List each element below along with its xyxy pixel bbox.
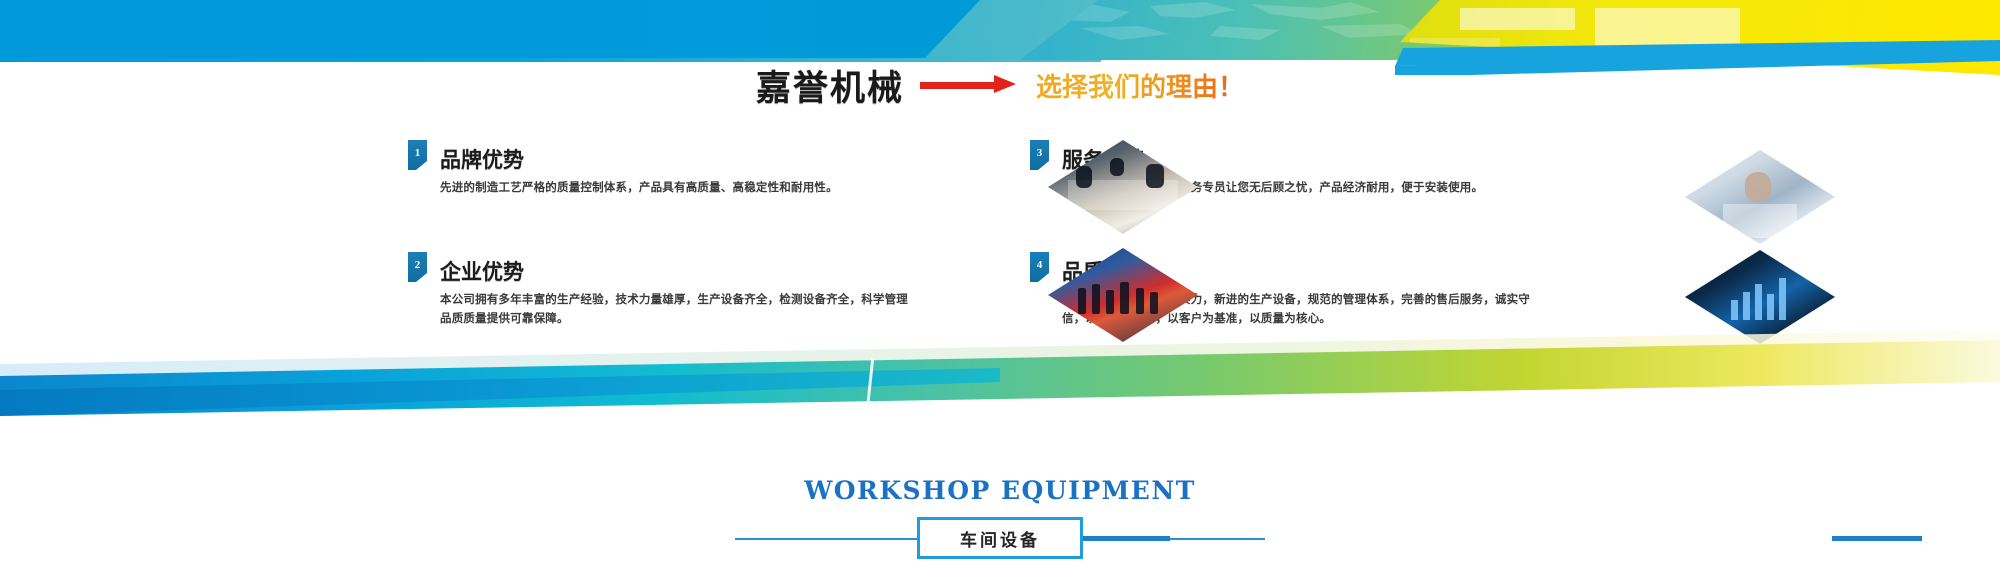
feature-photo-meeting [1048, 140, 1198, 234]
arrow-head [994, 75, 1016, 93]
diamond-frame [1048, 248, 1198, 342]
feature-number-badge: 4 [1030, 252, 1049, 282]
feature-photo-service-agent [1685, 150, 1835, 244]
bottom-gradient-wave [0, 330, 2000, 450]
promo-banner-page: 嘉誉机械 选择我们的理由！ 1 品牌优势 先进的制造工艺严格的质量控制体系，产品… [0, 0, 2000, 577]
feature-header: 2 企业优势 [408, 252, 968, 282]
feature-title: 品牌优势 [440, 149, 524, 170]
brand-title: 嘉誉机械 [756, 60, 904, 111]
rule-right-thick [1832, 536, 1922, 541]
top-blue-wedge-dark [0, 0, 980, 58]
feature-number-badge: 3 [1030, 140, 1049, 170]
red-arrow-icon [920, 77, 1020, 93]
feature-photo-team [1048, 248, 1198, 342]
feature-body: 先进的制造工艺严格的质量控制体系，产品具有高质量、高稳定性和耐用性。 [440, 178, 910, 197]
feature-title: 企业优势 [440, 261, 524, 282]
feature-body: 本公司拥有多年丰富的生产经验，技术力量雄厚，生产设备齐全，检测设备齐全，科学管理… [440, 290, 910, 328]
tagline-text: 选择我们的理由！ [1036, 67, 1244, 104]
feature-header: 1 品牌优势 [408, 140, 968, 170]
headline-row: 嘉誉机械 选择我们的理由！ [0, 58, 2000, 112]
section-chinese-box: 车间设备 [917, 517, 1083, 559]
diamond-frame [1048, 140, 1198, 234]
diamond-frame [1685, 150, 1835, 244]
section-title-block: WORKSHOP EQUIPMENT 车间设备 [0, 470, 2000, 577]
feature-number-badge: 1 [408, 140, 427, 170]
section-english-title: WORKSHOP EQUIPMENT [0, 476, 2000, 505]
arrow-shaft [920, 82, 998, 89]
section-chinese-title: 车间设备 [960, 526, 1040, 551]
feature-item-2: 2 企业优势 本公司拥有多年丰富的生产经验，技术力量雄厚，生产设备齐全，检测设备… [408, 252, 968, 328]
yellow-highlight-1 [1460, 8, 1575, 30]
rule-left-thick [1080, 536, 1170, 541]
feature-item-1: 1 品牌优势 先进的制造工艺严格的质量控制体系，产品具有高质量、高稳定性和耐用性… [408, 140, 968, 197]
section-rule: 车间设备 [0, 517, 2000, 561]
feature-number-badge: 2 [408, 252, 427, 282]
yellow-highlight-2 [1595, 8, 1740, 46]
